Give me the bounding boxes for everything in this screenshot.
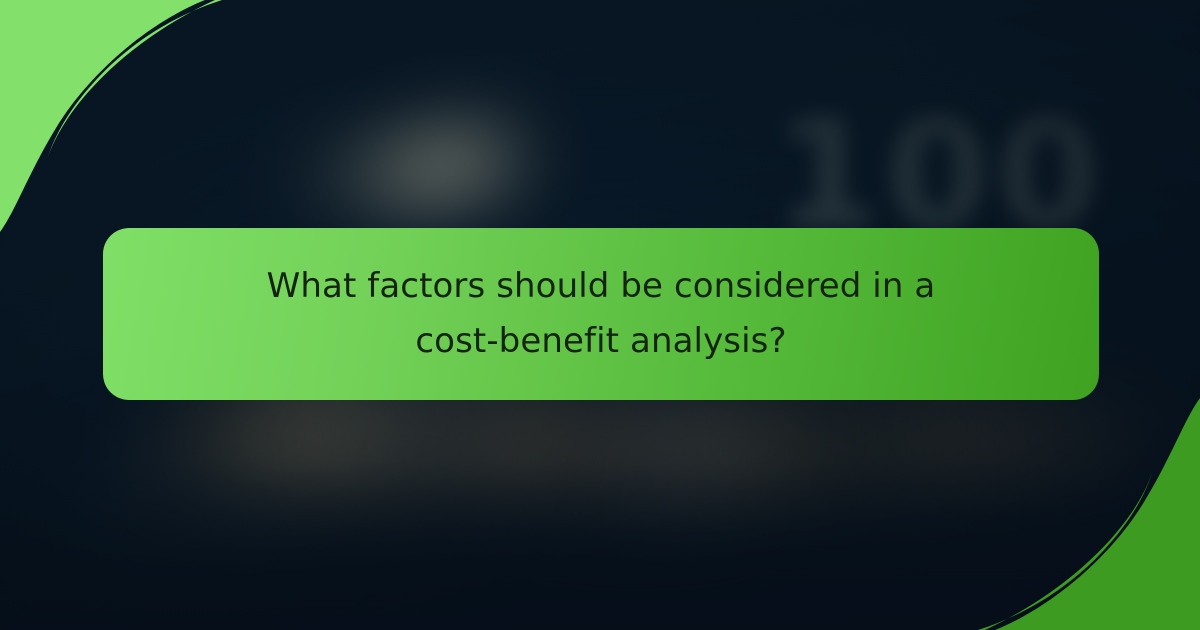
- poster-canvas: 100 What factors should be considered in…: [0, 0, 1200, 630]
- question-text: What factors should be considered in a c…: [251, 259, 951, 369]
- question-card: What factors should be considered in a c…: [103, 228, 1099, 400]
